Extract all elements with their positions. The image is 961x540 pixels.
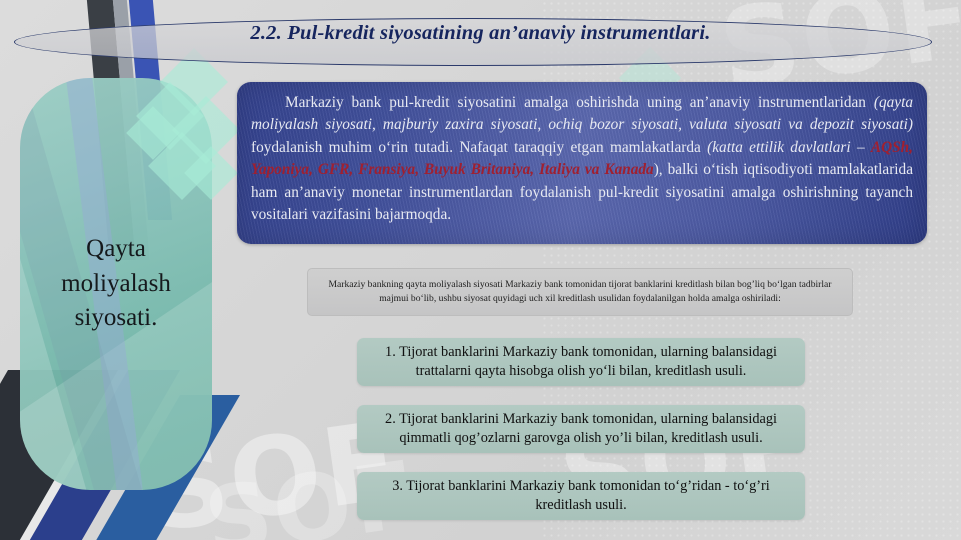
item-box-1-text: 1. Tijorat banklarini Markaziy bank tomo…	[373, 343, 789, 381]
intro-paragraph: Markaziy bank pul-kredit siyosatini amal…	[237, 82, 927, 234]
item-box-3-text: 3. Tijorat banklarini Markaziy bank tomo…	[373, 477, 789, 515]
slide-canvas: SOF SOF SOF SOF Qayta moliyalash siyosat…	[0, 0, 961, 540]
side-panel: Qayta moliyalash siyosati.	[20, 78, 212, 490]
page-title: 2.2. Pul-kredit siyosatining an’anaviy i…	[0, 22, 961, 45]
item-box-2[interactable]: 2. Tijorat banklarini Markaziy bank tomo…	[357, 405, 805, 453]
intro-text-box: Markaziy bank pul-kredit siyosatini amal…	[237, 82, 927, 244]
info-box-text: Markaziy bankning qayta moliyalash siyos…	[318, 278, 842, 305]
paragraph-segment-3: foydalanish muhim o‘rin tutadi. Nafaqat …	[251, 139, 707, 156]
paragraph-segment-1: Markaziy bank pul-kredit siyosatini amal…	[285, 94, 874, 111]
side-panel-label: Qayta moliyalash siyosati.	[20, 232, 212, 336]
info-box: Markaziy bankning qayta moliyalash siyos…	[307, 268, 853, 316]
item-box-1[interactable]: 1. Tijorat banklarini Markaziy bank tomo…	[357, 338, 805, 386]
item-box-2-text: 2. Tijorat banklarini Markaziy bank tomo…	[373, 410, 789, 448]
item-box-3[interactable]: 3. Tijorat banklarini Markaziy bank tomo…	[357, 472, 805, 520]
paragraph-segment-4-italic: (katta ettilik davlatlari –	[707, 139, 871, 156]
